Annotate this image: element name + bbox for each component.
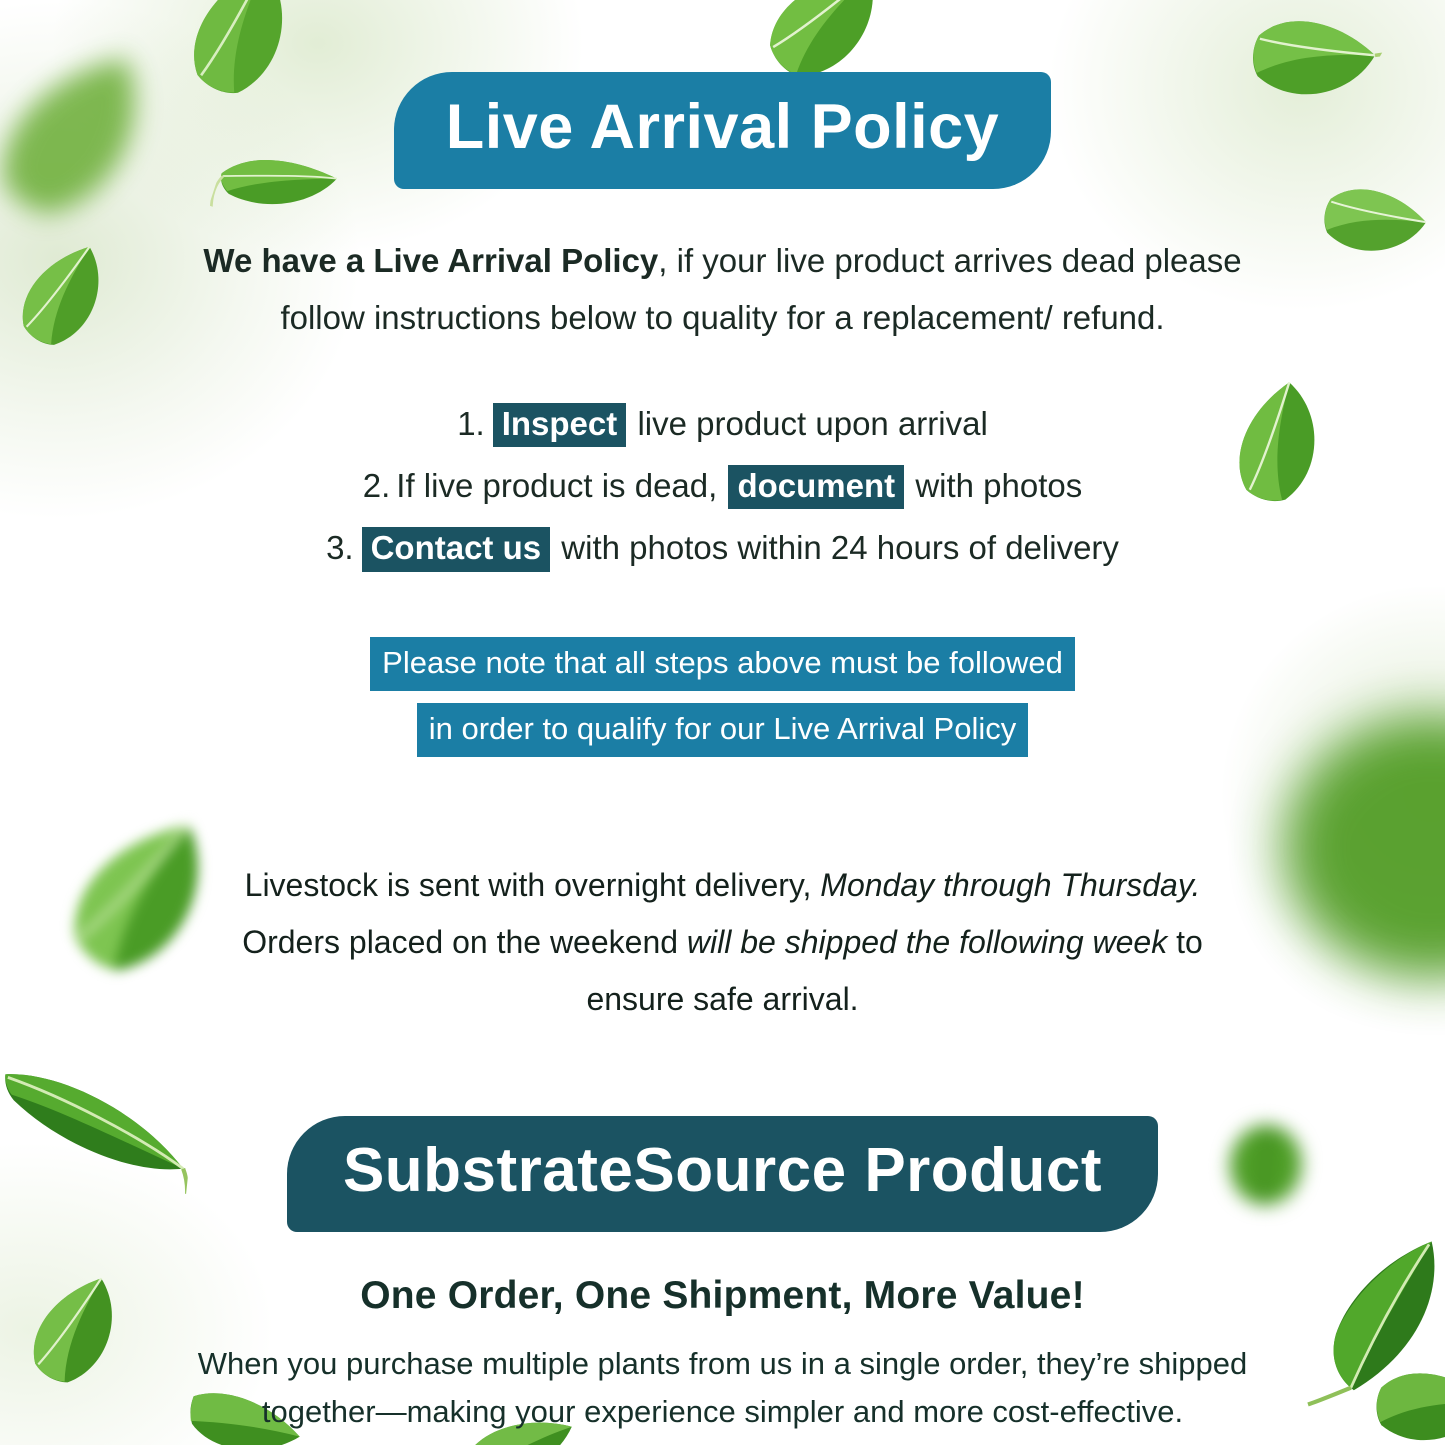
intro-paragraph: We have a Live Arrival Policy, if your l…	[163, 233, 1283, 347]
note-line-2: in order to qualify for our Live Arrival…	[417, 703, 1029, 757]
shipping-text-2: Orders placed on the weekend	[242, 924, 678, 960]
note-line-1: Please note that all steps above must be…	[370, 637, 1075, 691]
shipping-text-1: Livestock is sent with overnight deliver…	[245, 867, 812, 903]
note-row-1: Please note that all steps above must be…	[0, 637, 1445, 691]
step-text: live product upon arrival	[637, 405, 987, 442]
step-text: with photos within 24 hours of delivery	[561, 529, 1119, 566]
substratesource-product-banner: SubstrateSource Product	[287, 1116, 1158, 1232]
shipping-italic-2: will be shipped the following week	[687, 924, 1167, 960]
step-number: 2.	[363, 467, 391, 504]
policy-note-block: Please note that all steps above must be…	[0, 637, 1445, 769]
step-highlight-inspect: Inspect	[493, 403, 627, 448]
product-section: SubstrateSource Product One Order, One S…	[0, 1116, 1445, 1436]
step-text: with photos	[915, 467, 1082, 504]
product-body-line-2: together—making your experience simpler …	[262, 1394, 1183, 1429]
policy-step-2: 2.If live product is dead, document with…	[0, 455, 1445, 517]
product-body-line-1: When you purchase multiple plants from u…	[198, 1346, 1247, 1381]
step-number: 3.	[326, 529, 354, 566]
poster-canvas: Live Arrival Policy We have a Live Arriv…	[0, 0, 1445, 1445]
note-row-2: in order to qualify for our Live Arrival…	[0, 703, 1445, 757]
step-highlight-contact-us[interactable]: Contact us	[362, 527, 551, 572]
step-number: 1.	[457, 405, 485, 442]
live-arrival-policy-banner: Live Arrival Policy	[394, 72, 1051, 189]
policy-step-3: 3.Contact us with photos within 24 hours…	[0, 517, 1445, 579]
policy-steps-list: 1.Inspect live product upon arrival 2.If…	[0, 393, 1445, 579]
shipping-italic-1: Monday through Thursday.	[820, 867, 1200, 903]
policy-step-1: 1.Inspect live product upon arrival	[0, 393, 1445, 455]
step-highlight-document: document	[728, 465, 904, 510]
poster-content: Live Arrival Policy We have a Live Arriv…	[0, 0, 1445, 1445]
intro-bold-text: We have a Live Arrival Policy	[203, 242, 658, 279]
product-subheading: One Order, One Shipment, More Value!	[0, 1274, 1445, 1318]
product-body-text: When you purchase multiple plants from u…	[178, 1340, 1268, 1436]
shipping-paragraph: Livestock is sent with overnight deliver…	[223, 857, 1223, 1028]
step-pretext: If live product is dead,	[396, 467, 717, 504]
